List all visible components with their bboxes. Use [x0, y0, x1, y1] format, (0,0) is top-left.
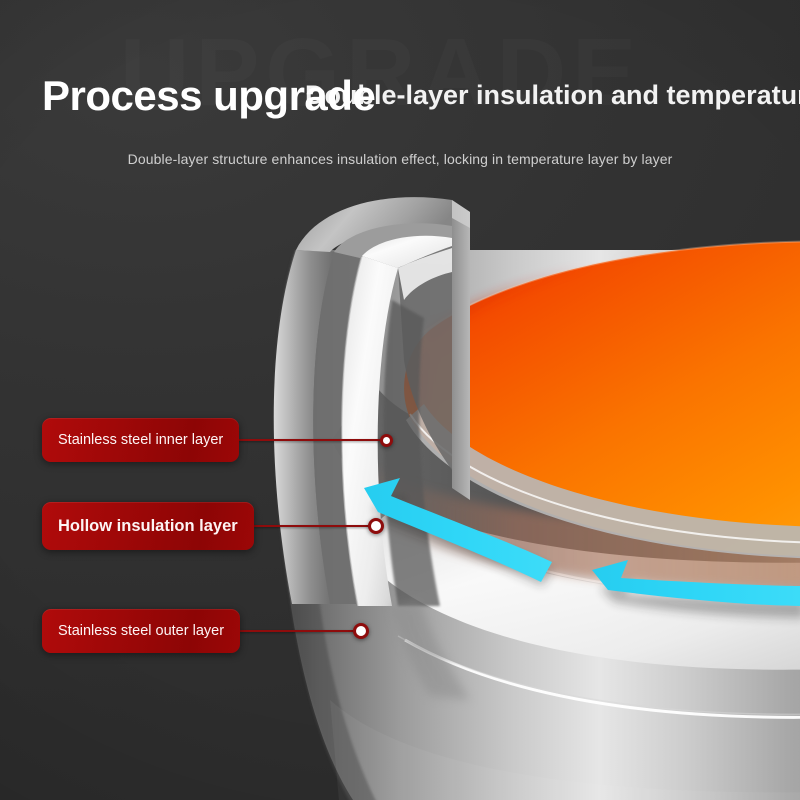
- page-description: Double-layer structure enhances insulati…: [0, 151, 800, 167]
- poster-canvas: UPGRADE: [0, 0, 800, 800]
- callout-outer-layer[interactable]: Stainless steel outer layer: [42, 609, 369, 653]
- page-title: Process upgrade: [42, 72, 375, 120]
- callout-label-hollow-layer: Hollow insulation layer: [58, 517, 238, 536]
- cutaway-pot-illustration: [0, 0, 800, 800]
- callout-inner-layer[interactable]: Stainless steel inner layer: [42, 418, 393, 462]
- callout-badge-outer-layer[interactable]: Stainless steel outer layer: [42, 609, 240, 653]
- callout-dot-hollow-layer[interactable]: [368, 518, 384, 534]
- callout-label-inner-layer: Stainless steel inner layer: [58, 432, 223, 448]
- callout-leader-hollow-layer: [254, 525, 370, 527]
- callout-leader-outer-layer: [240, 630, 355, 632]
- cut-slab-side: [452, 200, 470, 500]
- callout-hollow-layer[interactable]: Hollow insulation layer: [42, 502, 384, 550]
- callout-dot-outer-layer[interactable]: [353, 623, 369, 639]
- callout-leader-inner-layer: [239, 439, 382, 441]
- callout-dot-inner-layer[interactable]: [380, 434, 393, 447]
- callout-badge-inner-layer[interactable]: Stainless steel inner layer: [42, 418, 239, 462]
- callout-badge-hollow-layer[interactable]: Hollow insulation layer: [42, 502, 254, 550]
- callout-label-outer-layer: Stainless steel outer layer: [58, 623, 224, 639]
- page-subtitle-headline: Double-layer insulation and temperature …: [305, 80, 800, 111]
